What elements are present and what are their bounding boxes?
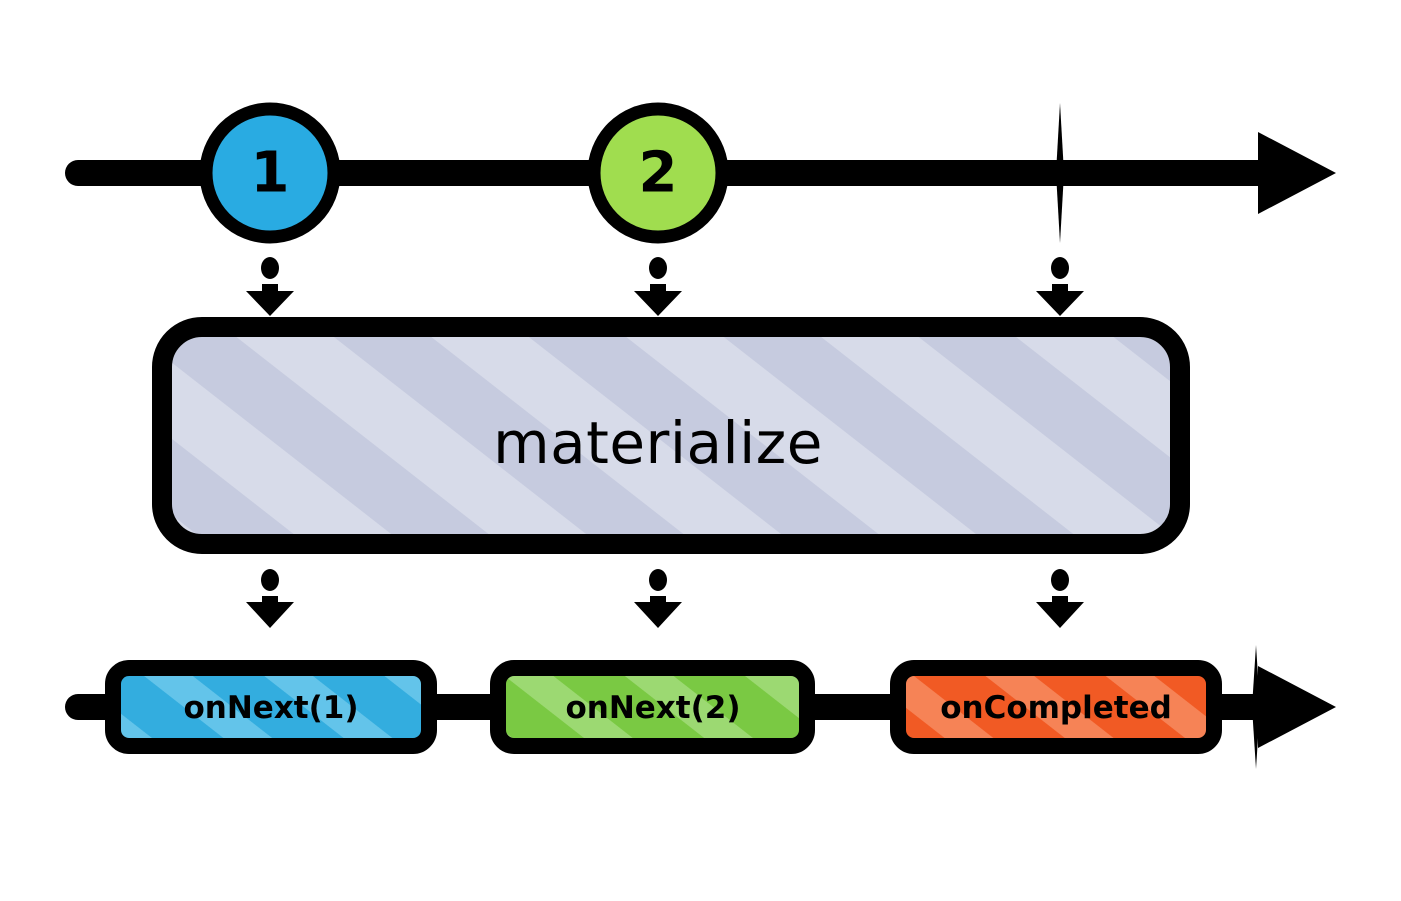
- operator-box-label: materialize: [493, 409, 823, 477]
- output-arrow-3-head: [1036, 602, 1084, 628]
- input-arrow-2: [634, 257, 682, 316]
- output-arrow-2: [634, 569, 682, 628]
- input-arrow-2-head: [634, 291, 682, 316]
- marble-2-label: 2: [639, 141, 678, 206]
- notification-onnext-2-label: onNext(2): [565, 690, 740, 726]
- marble-1-label: 1: [251, 141, 290, 206]
- marble-diagram-canvas: 1 2: [0, 0, 1401, 901]
- notification-onnext-1[interactable]: onNext(1): [113, 668, 429, 746]
- output-arrow-3: [1036, 569, 1084, 628]
- source-timeline: 1 2: [65, 103, 1336, 243]
- input-arrow-3-dot: [1051, 257, 1069, 279]
- input-arrow-3: [1036, 257, 1084, 316]
- input-arrow-1-dot: [261, 257, 279, 279]
- input-arrows: [246, 257, 1084, 316]
- marble-diagram: 1 2: [0, 0, 1401, 901]
- notification-oncompleted[interactable]: onCompleted: [898, 668, 1214, 746]
- output-arrow-1-dot: [261, 569, 279, 591]
- marble-1[interactable]: 1: [206, 109, 334, 237]
- output-arrows: [246, 569, 1084, 628]
- output-arrow-1-head: [246, 602, 294, 628]
- result-completion-tick: [1252, 645, 1260, 769]
- notification-oncompleted-label: onCompleted: [940, 690, 1172, 726]
- input-arrow-1: [246, 257, 294, 316]
- result-timeline: onNext(1) onNext(2) onCompleted: [65, 645, 1336, 769]
- input-arrow-2-dot: [649, 257, 667, 279]
- input-arrow-1-head: [246, 291, 294, 316]
- notification-onnext-1-label: onNext(1): [183, 690, 358, 726]
- operator-box[interactable]: materialize: [162, 327, 1180, 544]
- output-arrow-2-dot: [649, 569, 667, 591]
- marble-2[interactable]: 2: [594, 109, 722, 237]
- output-arrow-3-dot: [1051, 569, 1069, 591]
- input-arrow-3-head: [1036, 291, 1084, 316]
- notification-onnext-2[interactable]: onNext(2): [498, 668, 807, 746]
- output-arrow-2-head: [634, 602, 682, 628]
- output-arrow-1: [246, 569, 294, 628]
- source-completion-tick: [1056, 103, 1064, 243]
